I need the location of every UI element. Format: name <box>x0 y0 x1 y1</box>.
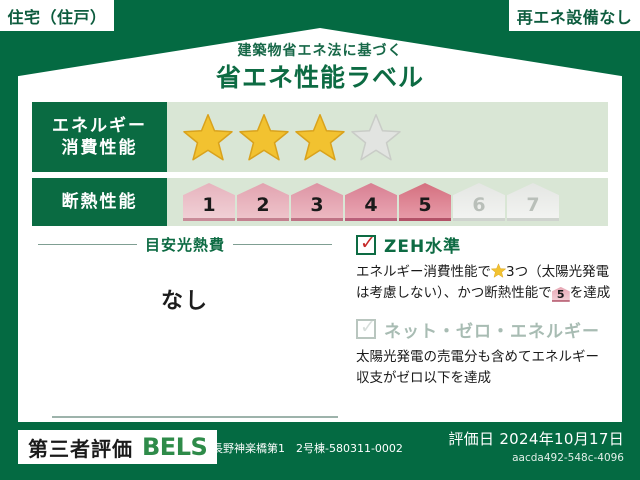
nze-desc-line2: 収支がゼロ以下を達成 <box>356 370 491 386</box>
zeh-desc-part1: エネルギー消費性能で <box>356 264 491 280</box>
bels-en-text: BELS <box>142 433 207 461</box>
energy-performance-label: エネルギー 消費性能 <box>32 102 167 172</box>
badge-building-type: 住宅（住戸） <box>0 0 114 31</box>
check-icon-unchecked: ✓ <box>360 318 376 337</box>
grade-number: 2 <box>256 196 269 215</box>
grade-house-6: 6 <box>453 183 505 221</box>
energy-star-rating <box>167 102 608 172</box>
nze-title-row: ✓ ネット・ゼロ・エネルギー <box>356 317 640 342</box>
evaluation-date: 評価日 2024年10月17日 <box>448 428 624 449</box>
evaluation-id: aacda492-548c-4096 <box>448 452 624 464</box>
grade-house-5: 5 <box>399 183 451 221</box>
grade-house-3: 3 <box>291 183 343 221</box>
grade-house-4: 4 <box>345 183 397 221</box>
energy-label-line2: 消費性能 <box>62 137 138 159</box>
utility-cost-heading: 目安光熱費 <box>32 234 338 255</box>
nze-desc-line1: 太陽光発電の売電分も含めてエネルギー <box>356 349 599 365</box>
label-subtitle: 建築物省エネ法に基づく <box>18 42 622 60</box>
page-title: 省エネ性能ラベル <box>18 62 622 93</box>
grade-number: 7 <box>526 196 539 215</box>
bels-energy-label: 住宅（住戸） 再エネ設備なし 建築物省エネ法に基づく 省エネ性能ラベル エネルギ… <box>0 0 640 480</box>
check-icon: ✓ <box>360 234 376 253</box>
grade-number: 5 <box>418 196 431 215</box>
utility-cost-heading-text: 目安光熱費 <box>145 234 225 255</box>
star-list <box>183 113 401 161</box>
evaluation-info: 評価日 2024年10月17日 aacda492-548c-4096 <box>448 428 624 464</box>
star-icon-filled <box>239 113 289 161</box>
zeh-criteria-item: ✓ ZEH水準 エネルギー消費性能で3つ（太陽光発電は考慮しない）、かつ断熱性能… <box>356 232 640 304</box>
title-block: 建築物省エネ法に基づく 省エネ性能ラベル <box>18 42 622 93</box>
grade-house-7: 7 <box>507 183 559 221</box>
energy-label-line1: エネルギー <box>52 115 147 137</box>
zeh-checkbox: ✓ <box>356 235 376 255</box>
criteria-section: ✓ ZEH水準 エネルギー消費性能で3つ（太陽光発電は考慮しない）、かつ断熱性能… <box>356 232 640 389</box>
label-card: 建築物省エネ法に基づく 省エネ性能ラベル エネルギー 消費性能 断熱性能 123… <box>18 28 622 422</box>
divider-bottom <box>52 416 338 418</box>
grade-house-2: 2 <box>237 183 289 221</box>
property-name: 長野神楽橋第1 2号棟-580311-0002 <box>212 440 403 456</box>
grade-number: 1 <box>202 196 215 215</box>
rule-right <box>233 244 332 245</box>
zeh-desc-part3: を達成 <box>570 285 611 301</box>
bels-logo: 第三者評価 BELS <box>18 430 217 464</box>
bels-jp-text: 第三者評価 <box>28 433 133 462</box>
inline-grade-badge: 5 <box>552 287 570 302</box>
inline-star-icon <box>491 263 506 278</box>
nze-criteria-item: ✓ ネット・ゼロ・エネルギー 太陽光発電の売電分も含めてエネルギー収支がゼロ以下… <box>356 317 640 389</box>
grade-number: 6 <box>472 196 485 215</box>
badge-renewable-energy: 再エネ設備なし <box>509 0 640 31</box>
zeh-label: ZEH水準 <box>384 232 461 257</box>
star-icon-filled <box>183 113 233 161</box>
insulation-performance-row: 断熱性能 1234567 <box>32 178 608 226</box>
grade-number: 4 <box>364 196 377 215</box>
insulation-performance-label: 断熱性能 <box>32 178 167 226</box>
zeh-desc-stars: 3つ（太陽光発電 <box>506 264 609 280</box>
utility-cost-section: 目安光熱費 なし <box>32 234 338 315</box>
grade-house-1: 1 <box>183 183 235 221</box>
rule-left <box>38 244 137 245</box>
energy-performance-row: エネルギー 消費性能 <box>32 102 608 172</box>
zeh-desc-part2: は考慮しない）、かつ断熱性能で <box>356 285 552 301</box>
zeh-description: エネルギー消費性能で3つ（太陽光発電は考慮しない）、かつ断熱性能で5を達成 <box>356 262 640 304</box>
utility-cost-value: なし <box>32 283 338 315</box>
nze-checkbox: ✓ <box>356 319 376 339</box>
footer: 第三者評価 BELS 長野神楽橋第1 2号棟-580311-0002 評価日 2… <box>0 422 640 480</box>
nze-label: ネット・ゼロ・エネルギー <box>384 317 600 342</box>
star-icon-empty <box>351 113 401 161</box>
nze-description: 太陽光発電の売電分も含めてエネルギー収支がゼロ以下を達成 <box>356 347 640 389</box>
grade-number: 3 <box>310 196 323 215</box>
zeh-title-row: ✓ ZEH水準 <box>356 232 640 257</box>
insulation-grade-scale: 1234567 <box>167 178 608 226</box>
grade-list: 1234567 <box>183 183 559 221</box>
star-icon-filled <box>295 113 345 161</box>
